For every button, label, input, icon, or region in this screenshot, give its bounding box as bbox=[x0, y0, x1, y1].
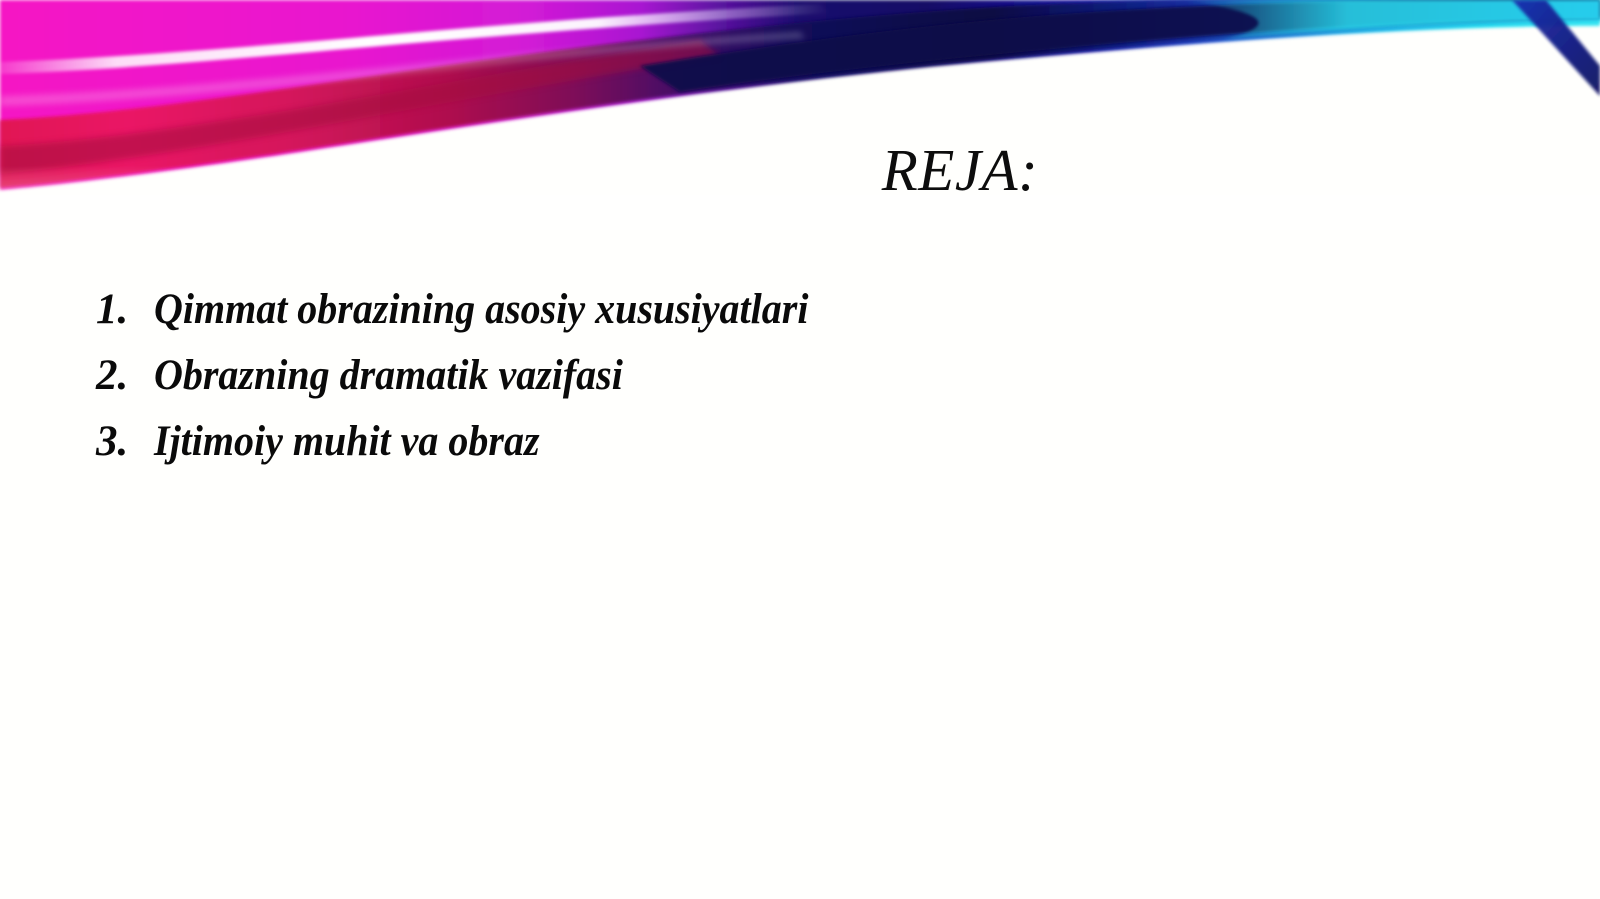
wave-ribbon-cyan-tail bbox=[1180, 0, 1600, 40]
wave-ribbon-white-streak bbox=[0, 4, 830, 74]
agenda-list: 1. Qimmat obrazining asosiy xususiyatlar… bbox=[96, 277, 1196, 475]
wave-ribbon-navy-wedge bbox=[640, 0, 1600, 92]
list-item-number: 2. bbox=[96, 343, 154, 409]
list-item-label: Ijtimoiy muhit va obraz bbox=[154, 409, 1123, 475]
list-item-number: 1. bbox=[96, 277, 154, 343]
list-item-label: Obrazning dramatik vazifasi bbox=[154, 343, 1123, 409]
wave-ribbon-secondary-streak bbox=[0, 32, 805, 106]
list-item: 2. Obrazning dramatik vazifasi bbox=[96, 343, 1196, 409]
list-item: 3. Ijtimoiy muhit va obraz bbox=[96, 409, 1196, 475]
wave-ribbon-navy-stripe bbox=[1512, 0, 1600, 96]
list-item-label: Qimmat obrazining asosiy xususiyatlari bbox=[154, 277, 1123, 343]
list-item-number: 3. bbox=[96, 409, 154, 475]
slide: REJA: 1. Qimmat obrazining asosiy xususi… bbox=[0, 0, 1600, 899]
page-title: REJA: bbox=[0, 140, 1600, 202]
list-item: 1. Qimmat obrazining asosiy xususiyatlar… bbox=[96, 277, 1196, 343]
